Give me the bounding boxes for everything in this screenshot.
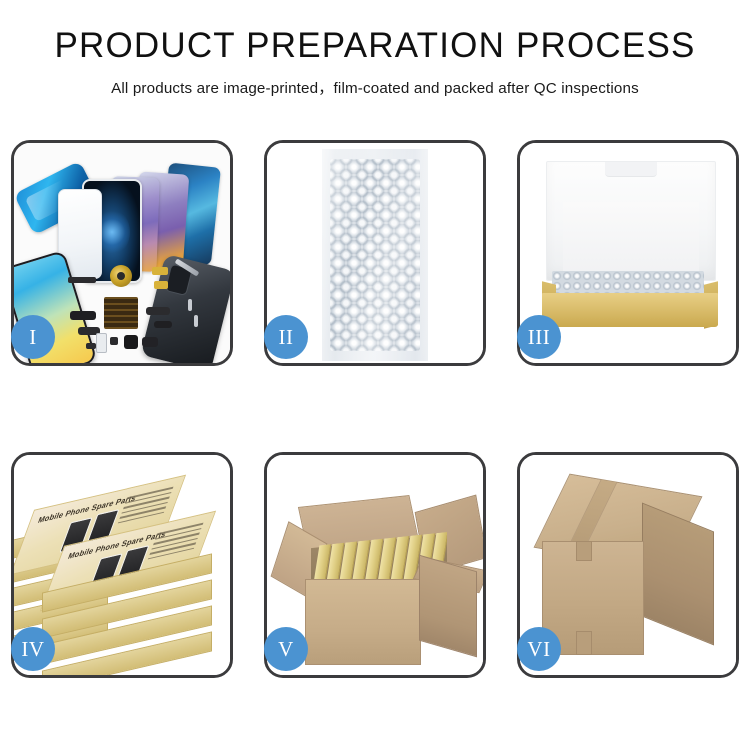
inner-box-lid-face xyxy=(563,202,699,280)
earpiece-part xyxy=(142,337,158,347)
gold-connector-part-2 xyxy=(154,281,168,289)
sim-tray-part xyxy=(96,333,107,353)
sealed-carton-side-face xyxy=(642,502,714,645)
camera-module-part xyxy=(124,335,138,349)
product-preparation-infographic: PRODUCT PREPARATION PROCESS All products… xyxy=(0,0,750,750)
carton-side-face xyxy=(419,555,477,658)
step-badge-2: II xyxy=(264,315,308,359)
bubble-wrap-sheet xyxy=(322,149,428,361)
screwdriver-part-2 xyxy=(194,315,198,327)
step-badge-1: I xyxy=(11,315,55,359)
step-panel-sealed-carton: VI xyxy=(517,452,739,678)
flex-cable-part-3 xyxy=(146,307,170,315)
inner-box-tray xyxy=(542,293,718,327)
header: PRODUCT PREPARATION PROCESS All products… xyxy=(0,28,750,98)
step-badge-6: VI xyxy=(517,627,561,671)
step-panel-carton-loading: V xyxy=(264,452,486,678)
inner-box-lid xyxy=(546,161,716,281)
step-badge-3: III xyxy=(517,315,561,359)
sealing-tape-lower xyxy=(576,631,592,655)
chip-board-part xyxy=(104,297,138,329)
retail-box-specs-1 xyxy=(117,487,174,527)
step-badge-5: V xyxy=(264,627,308,671)
step-panel-inner-box-packing: III xyxy=(517,140,739,366)
small-component-2 xyxy=(86,343,96,349)
sealing-tape-upper xyxy=(576,541,592,561)
step-badge-4: IV xyxy=(11,627,55,671)
gold-connector-part-1 xyxy=(152,267,168,275)
step-panel-products-and-parts: I xyxy=(11,140,233,366)
spare-parts-group xyxy=(66,263,196,363)
plastic-sheen xyxy=(322,149,428,361)
page-subtitle: All products are image-printed，film-coat… xyxy=(0,76,750,98)
screwdriver-part-1 xyxy=(188,299,192,311)
speaker-mesh-part xyxy=(68,277,96,283)
step-panel-retail-box-stacking: Mobile Phone Spare Parts Mobile Phone Sp… xyxy=(11,452,233,678)
carton-front-face xyxy=(305,579,421,665)
page-title: PRODUCT PREPARATION PROCESS xyxy=(0,28,750,65)
flex-cable-part-1 xyxy=(70,311,96,320)
small-component-1 xyxy=(110,337,118,345)
step-panel-bubble-wrapping: II xyxy=(264,140,486,366)
flex-cable-part-4 xyxy=(154,321,172,328)
vibration-motor-part xyxy=(110,265,132,287)
process-steps-grid: I II xyxy=(11,140,739,680)
